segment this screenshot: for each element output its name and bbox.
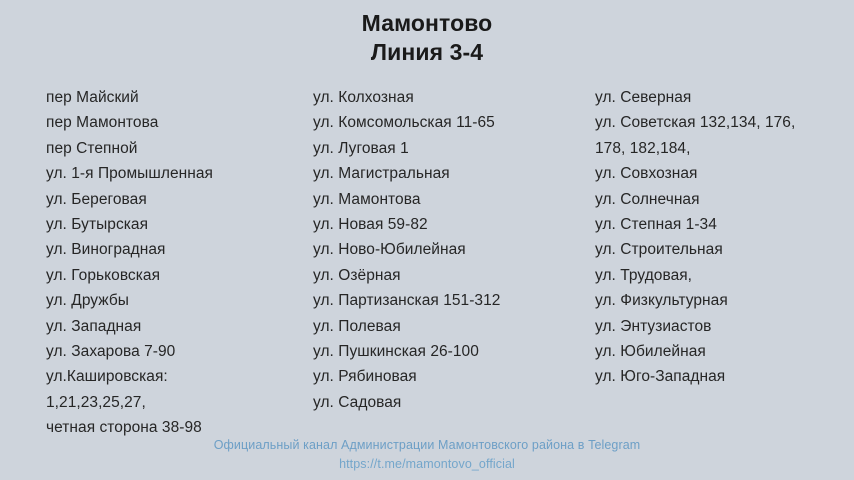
poster-header: Мамонтово Линия 3-4 xyxy=(0,0,854,67)
street-line: ул. Юбилейная xyxy=(595,339,847,364)
street-line: ул. Северная xyxy=(595,85,847,110)
street-line: 178, 182,184, xyxy=(595,136,847,161)
street-line: ул. Степная 1-34 xyxy=(595,212,847,237)
street-line: ул. Магистральная xyxy=(313,161,591,186)
street-line: 1,21,23,25,27, xyxy=(46,390,308,415)
street-column-1: пер Майскийпер Мамонтовапер Степнойул. 1… xyxy=(46,85,308,441)
street-line: ул. Новая 59-82 xyxy=(313,212,591,237)
street-line: ул. Колхозная xyxy=(313,85,591,110)
street-line: пер Майский xyxy=(46,85,308,110)
street-line: ул. Юго-Западная xyxy=(595,364,847,389)
street-line: ул. Луговая 1 xyxy=(313,136,591,161)
street-line: ул. Виноградная xyxy=(46,237,308,262)
street-column-2: ул. Колхознаяул. Комсомольская 11-65ул. … xyxy=(313,85,591,415)
street-line: ул. Полевая xyxy=(313,314,591,339)
street-line: ул. Ново-Юбилейная xyxy=(313,237,591,262)
street-line: ул. Трудовая, xyxy=(595,263,847,288)
street-line: ул. Физкультурная xyxy=(595,288,847,313)
street-line: пер Мамонтова xyxy=(46,110,308,135)
street-line: ул. Горьковская xyxy=(46,263,308,288)
street-line: ул. Партизанская 151-312 xyxy=(313,288,591,313)
street-line: пер Степной xyxy=(46,136,308,161)
street-columns: пер Майскийпер Мамонтовапер Степнойул. 1… xyxy=(0,85,854,430)
street-line: ул. Бутырская xyxy=(46,212,308,237)
page-title: Мамонтово xyxy=(0,9,854,38)
street-line: ул.Кашировская: xyxy=(46,364,308,389)
street-line: ул. Солнечная xyxy=(595,187,847,212)
street-line: ул. Совхозная xyxy=(595,161,847,186)
street-line: ул. Озёрная xyxy=(313,263,591,288)
page-subtitle: Линия 3-4 xyxy=(0,38,854,67)
poster-footer: Официальный канал Администрации Мамонтов… xyxy=(0,436,854,474)
street-line: ул. Береговая xyxy=(46,187,308,212)
street-line: ул. Энтузиастов xyxy=(595,314,847,339)
street-line: ул. Рябиновая xyxy=(313,364,591,389)
footer-channel-text: Официальный канал Администрации Мамонтов… xyxy=(0,436,854,455)
street-line: ул. Строительная xyxy=(595,237,847,262)
street-line: ул. Советская 132,134, 176, xyxy=(595,110,847,135)
street-line: ул. Пушкинская 26-100 xyxy=(313,339,591,364)
poster-root: Мамонтово Линия 3-4 пер Майскийпер Мамон… xyxy=(0,0,854,480)
street-line: ул. Захарова 7-90 xyxy=(46,339,308,364)
street-column-3: ул. Севернаяул. Советская 132,134, 176,1… xyxy=(595,85,847,390)
street-line: ул. Дружбы xyxy=(46,288,308,313)
footer-telegram-link[interactable]: https://t.me/mamontovo_official xyxy=(0,455,854,474)
street-line: ул. Садовая xyxy=(313,390,591,415)
street-line: ул. 1-я Промышленная xyxy=(46,161,308,186)
street-line: ул. Комсомольская 11-65 xyxy=(313,110,591,135)
street-line: ул. Западная xyxy=(46,314,308,339)
street-line: ул. Мамонтова xyxy=(313,187,591,212)
